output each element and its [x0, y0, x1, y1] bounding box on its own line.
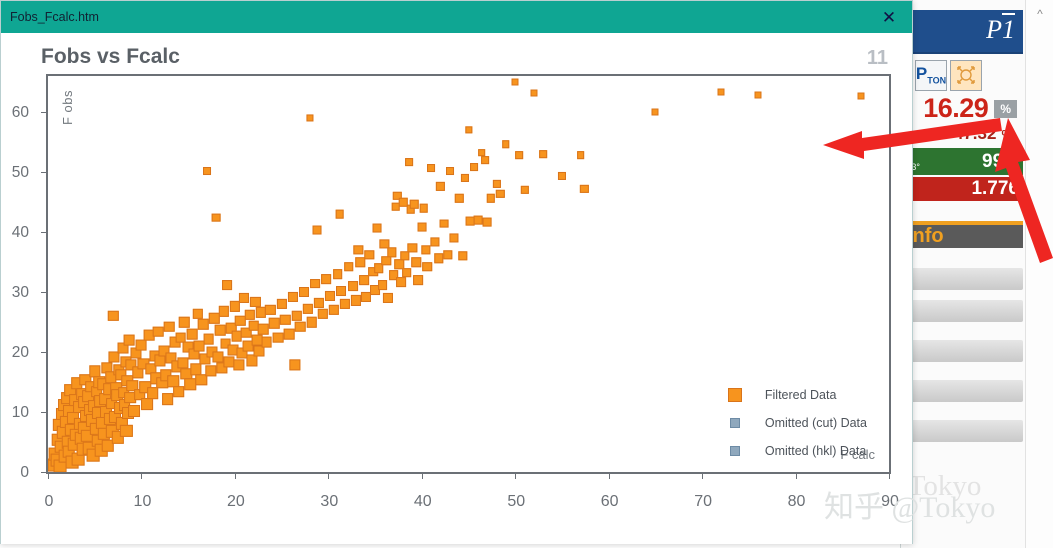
data-point	[173, 386, 185, 398]
data-point	[306, 114, 313, 121]
y-axis-tick-label: 50	[12, 164, 29, 182]
x-axis-tick-label: 20	[227, 493, 245, 511]
data-point	[179, 317, 190, 328]
data-point	[405, 158, 413, 166]
r-factor-percent-badge[interactable]: %	[994, 100, 1017, 118]
data-point	[530, 89, 537, 96]
data-point	[455, 194, 463, 202]
data-point	[515, 151, 523, 159]
y-axis-tick-label: 40	[12, 224, 29, 242]
data-point	[299, 287, 309, 297]
data-point	[387, 248, 396, 257]
data-point	[310, 279, 320, 289]
data-point	[318, 308, 328, 318]
data-point	[288, 292, 298, 302]
data-point	[423, 262, 433, 272]
y-axis-tick-label: 10	[12, 404, 29, 422]
x-axis-tick-label: 40	[414, 493, 432, 511]
data-point	[246, 355, 257, 366]
data-point	[250, 297, 260, 307]
plot-window: Fobs_Fcalc.htm ✕ Fobs vs Fcalc 11 F obs …	[0, 0, 913, 544]
x-axis-tick: 40	[422, 472, 423, 479]
data-point	[192, 308, 202, 318]
vertical-scrollbar[interactable]: ^	[1025, 0, 1053, 548]
data-point	[336, 286, 346, 296]
data-point	[382, 256, 391, 265]
data-point	[198, 319, 209, 330]
data-point	[400, 251, 409, 260]
y-axis-tick: 50	[41, 172, 48, 173]
data-point	[162, 393, 174, 405]
data-point	[245, 310, 255, 320]
legend-swatch-omitted-hkl-icon	[730, 446, 740, 456]
data-point	[120, 424, 132, 436]
x-axis-tick: 80	[796, 472, 797, 479]
legend-label-filtered: Filtered Data	[765, 388, 837, 402]
goof-row: ooF 1.776	[900, 177, 1023, 201]
y-axis-tick: 10	[41, 412, 48, 413]
data-point	[434, 254, 443, 263]
data-point	[303, 304, 313, 314]
completeness-row: ull 107.2° 6% to 115.3° 99.2	[900, 148, 1023, 175]
data-point	[857, 93, 864, 100]
data-point	[421, 245, 430, 254]
legend-swatch-omitted-cut-icon	[730, 418, 740, 428]
data-point	[449, 233, 458, 242]
weighted-r-value: 47.32	[954, 124, 997, 144]
space-group-banner: P1	[900, 10, 1023, 54]
completeness-value: 99.2	[982, 151, 1019, 173]
r-factor-row: 16.29 %	[900, 93, 1023, 124]
data-point	[340, 299, 350, 309]
y-axis-tick: 0	[41, 472, 48, 473]
data-point	[717, 88, 724, 95]
data-point	[348, 281, 358, 291]
data-point	[212, 213, 221, 222]
data-point	[155, 355, 166, 366]
data-point	[558, 172, 566, 180]
data-point	[372, 224, 381, 233]
tool-button-row: TWINS PTON	[900, 58, 1023, 92]
weighted-r-unit: %	[1001, 127, 1013, 142]
data-point	[410, 200, 419, 209]
data-point	[261, 337, 272, 348]
data-point	[443, 250, 452, 259]
legend-label-omitted-hkl: Omitted (hkl) Data	[765, 444, 866, 458]
data-point	[314, 298, 324, 308]
crystallography-side-panel: P1 TWINS PTON	[900, 0, 1025, 548]
data-point	[427, 164, 435, 172]
space-group-overline-digit: 1	[1002, 15, 1015, 44]
data-point	[203, 167, 211, 175]
data-point	[89, 366, 100, 377]
chart-index-number: 11	[867, 47, 888, 70]
info-button[interactable]: Info	[900, 221, 1023, 248]
data-point	[417, 223, 426, 232]
x-axis-tick-label: 70	[694, 493, 712, 511]
data-point	[108, 311, 118, 321]
data-point	[580, 185, 588, 193]
data-point	[436, 182, 444, 190]
data-point	[359, 275, 369, 285]
data-point	[458, 251, 467, 260]
x-axis-tick: 10	[141, 472, 142, 479]
data-point	[203, 333, 214, 344]
data-point	[187, 329, 198, 340]
legend-label-omitted-cut: Omitted (cut) Data	[765, 416, 867, 430]
window-titlebar[interactable]: Fobs_Fcalc.htm ✕	[1, 1, 912, 33]
x-axis-tick-label: 10	[134, 493, 152, 511]
data-point	[280, 314, 290, 324]
data-point	[355, 257, 365, 267]
x-axis-tick: 70	[702, 472, 703, 479]
page-title: Fobs vs Fcalc	[41, 45, 180, 69]
legend-item-omitted-cut[interactable]: Omitted (cut) Data	[728, 416, 867, 430]
plot-frame: F obs F calc 010203040506001020304050607…	[46, 74, 891, 474]
data-point	[258, 324, 269, 335]
data-point	[325, 291, 335, 301]
data-point	[520, 186, 528, 194]
x-axis-tick-label: 50	[507, 493, 525, 511]
panel-row-1[interactable]	[900, 268, 1023, 290]
data-point	[481, 156, 489, 164]
data-point	[496, 189, 504, 197]
y-axis-tick: 30	[41, 292, 48, 293]
chevron-up-icon[interactable]: ^	[1026, 4, 1053, 24]
screen: P1 TWINS PTON	[0, 0, 1053, 548]
data-point	[272, 332, 283, 343]
legend-swatch-filtered-icon	[728, 388, 742, 402]
panel-row-5[interactable]	[900, 420, 1023, 442]
data-point	[483, 218, 492, 227]
panel-row-3[interactable]	[900, 340, 1023, 362]
data-point	[461, 174, 469, 182]
data-point	[333, 269, 343, 279]
data-point	[539, 150, 547, 158]
data-point	[306, 317, 317, 328]
goof-value: 1.776	[971, 178, 1019, 200]
x-axis-tick-label: 0	[45, 493, 54, 511]
data-point	[411, 257, 421, 267]
data-point	[184, 379, 196, 391]
data-point	[291, 311, 301, 321]
y-axis-tick-label: 0	[20, 464, 29, 482]
x-axis-tick: 60	[609, 472, 610, 479]
expand-button[interactable]	[950, 60, 982, 91]
data-point	[219, 306, 229, 316]
y-axis-tick: 20	[41, 352, 48, 353]
data-point	[396, 277, 406, 287]
action-button-row: Info	[900, 218, 1023, 251]
r-factor-value: 16.29	[923, 93, 988, 124]
x-axis-tick: 30	[328, 472, 329, 479]
data-point	[153, 326, 164, 337]
data-point	[136, 339, 147, 350]
data-point	[502, 141, 510, 149]
data-point	[215, 325, 226, 336]
data-point	[344, 262, 354, 272]
panel-row-2[interactable]	[900, 300, 1023, 322]
data-point	[295, 322, 306, 333]
space-group-letter: P	[986, 15, 1002, 44]
data-point	[577, 151, 585, 159]
data-point	[205, 365, 216, 376]
data-point	[378, 280, 388, 290]
data-point	[430, 237, 439, 246]
data-point	[269, 318, 280, 329]
y-axis-tick: 40	[41, 232, 48, 233]
data-point	[277, 299, 287, 309]
close-icon[interactable]: ✕	[866, 1, 912, 33]
plot-body: Fobs vs Fcalc 11 F obs F calc 0102030405…	[1, 33, 912, 544]
y-axis-tick-label: 60	[12, 104, 29, 122]
data-point	[383, 293, 393, 303]
legend-item-omitted-hkl[interactable]: Omitted (hkl) Data	[728, 444, 867, 458]
data-point	[487, 194, 495, 202]
data-point	[512, 79, 519, 86]
data-point	[147, 388, 159, 400]
data-point	[440, 219, 449, 228]
x-axis-tick-label: 80	[788, 493, 806, 511]
data-point	[354, 245, 363, 254]
data-point	[446, 167, 454, 175]
data-point	[408, 243, 417, 252]
window-title: Fobs_Fcalc.htm	[10, 10, 99, 24]
x-axis-tick: 0	[48, 472, 49, 479]
data-point	[313, 225, 322, 234]
data-point	[222, 280, 232, 290]
data-point	[335, 210, 344, 219]
data-point	[465, 126, 472, 133]
data-point	[213, 351, 224, 362]
chart-legend: Filtered Data Omitted (cut) Data Omitted…	[728, 388, 867, 458]
data-point	[284, 329, 295, 340]
x-axis-tick-label: 30	[320, 493, 338, 511]
data-point	[239, 293, 249, 303]
data-point	[470, 163, 478, 171]
data-point	[419, 204, 428, 213]
legend-item-filtered[interactable]: Filtered Data	[728, 388, 867, 402]
data-point	[177, 357, 188, 368]
data-point	[233, 360, 244, 371]
data-point	[652, 109, 659, 116]
x-axis-tick: 50	[515, 472, 516, 479]
data-point	[492, 180, 500, 188]
x-axis-tick-label: 60	[601, 493, 619, 511]
data-point	[473, 216, 482, 225]
x-axis-tick: 20	[235, 472, 236, 479]
data-point	[289, 360, 300, 371]
y-axis-tick-label: 30	[12, 284, 29, 302]
platon-button-label: PTON	[916, 65, 946, 85]
y-axis-tick: 60	[41, 112, 48, 113]
data-point	[365, 250, 374, 259]
data-point	[265, 305, 275, 315]
data-point	[128, 405, 140, 417]
y-axis-tick-label: 20	[12, 344, 29, 362]
data-point	[413, 275, 423, 285]
x-axis-tick: 90	[889, 472, 890, 479]
data-point	[329, 305, 339, 315]
data-point	[141, 398, 153, 410]
expand-arrows-icon	[954, 63, 978, 87]
data-point	[755, 92, 762, 99]
x-axis-tick-label: 90	[881, 493, 899, 511]
data-point	[124, 335, 135, 346]
platon-button[interactable]: PTON	[915, 60, 947, 91]
panel-row-4[interactable]	[900, 380, 1023, 402]
data-point	[322, 274, 332, 284]
weighted-r-row: 47.32 %	[900, 124, 1023, 144]
data-point	[402, 268, 412, 278]
data-point	[164, 322, 175, 333]
